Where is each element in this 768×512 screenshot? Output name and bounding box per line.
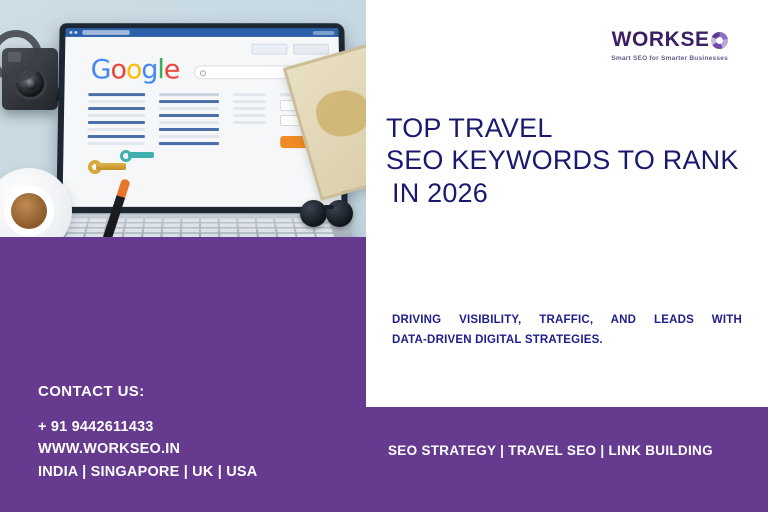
result-line xyxy=(233,107,266,110)
contact-website[interactable]: WWW.WORKSEO.IN xyxy=(38,438,257,460)
browser-titlebar xyxy=(65,28,338,37)
key xyxy=(88,223,106,227)
key xyxy=(67,229,85,233)
browser-dot xyxy=(74,31,77,34)
subheading-block: DRIVING VISIBILITY, TRAFFIC, AND LEADS W… xyxy=(392,310,742,350)
result-line xyxy=(88,100,145,103)
key xyxy=(70,218,88,222)
key xyxy=(182,229,199,233)
result-line xyxy=(233,114,266,117)
result-line xyxy=(88,142,146,145)
result-line xyxy=(88,135,146,138)
logo-wordmark: WORKSE xyxy=(611,28,728,52)
key xyxy=(219,218,236,222)
headline-line-2: SEO KEYWORDS TO RANK xyxy=(386,144,739,176)
headline-line-1: TOP TRAVEL xyxy=(386,112,739,144)
sunglasses-lens xyxy=(300,200,327,227)
result-line xyxy=(88,107,145,110)
google-header-buttons xyxy=(65,37,339,55)
key xyxy=(276,223,294,227)
key-body xyxy=(128,152,154,158)
result-line xyxy=(159,128,218,131)
key xyxy=(201,218,218,222)
teal-key-object xyxy=(120,150,154,162)
coffee-cup-object xyxy=(4,186,54,236)
key xyxy=(201,229,218,233)
results-column xyxy=(88,93,146,148)
google-signin-pill xyxy=(252,44,288,55)
results-column xyxy=(233,93,267,148)
brass-key-object xyxy=(88,160,128,176)
key xyxy=(126,218,143,222)
result-line xyxy=(88,121,145,124)
logo-tagline: Smart SEO for Smarter Businesses xyxy=(611,55,728,62)
results-column xyxy=(159,93,218,148)
contact-block: CONTACT US: + 91 9442611433 WWW.WORKSEO.… xyxy=(38,383,257,483)
contact-locations: INDIA | SINGAPORE | UK | USA xyxy=(38,461,257,483)
key xyxy=(182,223,199,227)
key xyxy=(182,218,199,222)
key xyxy=(257,223,274,227)
headline-line-3: IN 2026 xyxy=(386,177,739,209)
result-line xyxy=(159,100,218,103)
result-line xyxy=(159,142,218,145)
browser-menu xyxy=(313,31,335,35)
result-line xyxy=(88,128,146,131)
sunglasses-bridge xyxy=(324,205,334,209)
logo-text: WORKSE xyxy=(612,28,710,52)
result-line xyxy=(159,121,218,124)
subheading-line-2: DATA-DRIVEN DIGITAL STRATEGIES. xyxy=(392,330,742,350)
key xyxy=(144,229,161,233)
key xyxy=(275,218,292,222)
result-line xyxy=(88,114,145,117)
key xyxy=(239,229,256,233)
subheading-line-1: DRIVING VISIBILITY, TRAFFIC, AND LEADS W… xyxy=(392,310,742,330)
promotional-banner: Google xyxy=(0,0,768,512)
google-logo: Google xyxy=(90,55,179,86)
key xyxy=(144,223,161,227)
contact-heading: CONTACT US: xyxy=(38,383,257,400)
google-action-pill xyxy=(293,44,329,55)
browser-dot xyxy=(69,31,72,34)
key xyxy=(277,229,295,233)
key xyxy=(163,229,180,233)
key xyxy=(258,229,276,233)
services-list: SEO STRATEGY | TRAVEL SEO | LINK BUILDIN… xyxy=(388,443,713,458)
result-line xyxy=(160,93,219,96)
result-line xyxy=(159,114,218,117)
result-line xyxy=(233,93,266,96)
key xyxy=(69,223,87,227)
key xyxy=(89,218,106,222)
key xyxy=(238,218,255,222)
contact-purple-panel: CONTACT US: + 91 9442611433 WWW.WORKSEO.… xyxy=(0,237,366,512)
segmented-circle-icon xyxy=(711,32,728,49)
key xyxy=(201,223,218,227)
contact-phone[interactable]: + 91 9442611433 xyxy=(38,416,257,438)
key xyxy=(86,229,104,233)
key xyxy=(163,223,180,227)
key xyxy=(164,218,181,222)
sunglasses-object xyxy=(300,196,362,230)
result-line xyxy=(88,93,145,96)
key xyxy=(220,223,237,227)
key xyxy=(125,223,142,227)
services-purple-bar: SEO STRATEGY | TRAVEL SEO | LINK BUILDIN… xyxy=(366,407,768,512)
browser-tab xyxy=(82,30,130,35)
key xyxy=(256,218,273,222)
result-line xyxy=(159,135,218,138)
workseo-logo[interactable]: WORKSE Smart SEO for Smarter Businesses xyxy=(611,28,728,62)
key xyxy=(238,223,255,227)
result-line xyxy=(233,100,266,103)
key-body xyxy=(96,163,126,170)
key xyxy=(145,218,162,222)
result-line xyxy=(233,121,266,124)
page-title: TOP TRAVEL SEO KEYWORDS TO RANK IN 2026 xyxy=(386,112,739,209)
key xyxy=(220,229,237,233)
key xyxy=(125,229,143,233)
result-line xyxy=(159,107,218,110)
